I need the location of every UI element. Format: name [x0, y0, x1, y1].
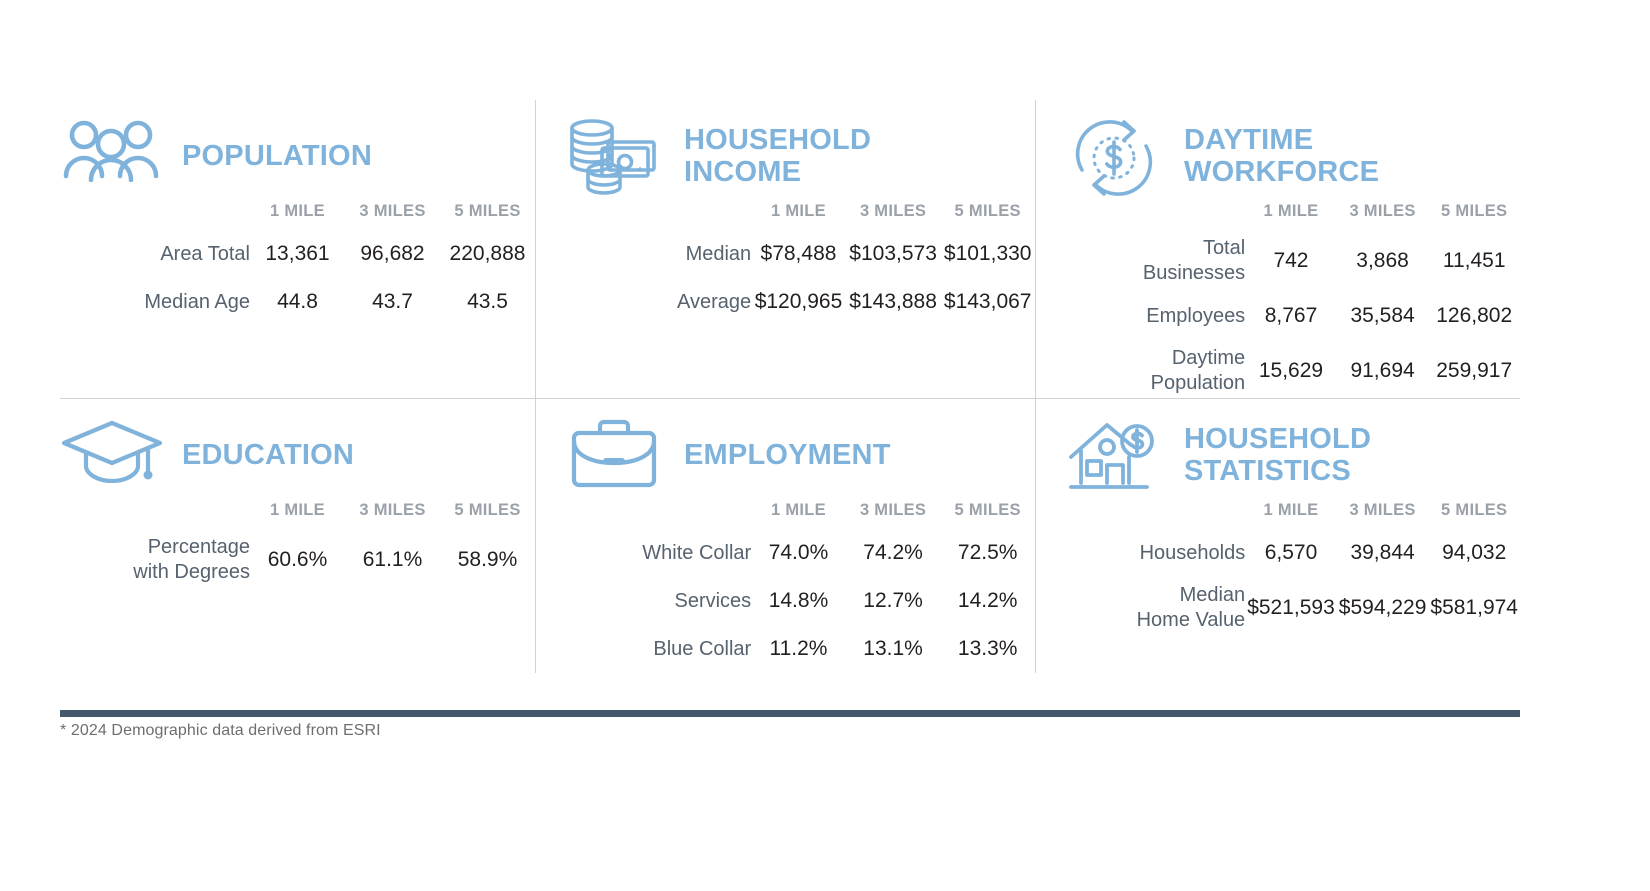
column-header-5miles: 5 MILES	[1428, 491, 1520, 529]
row-value: $101,330	[940, 230, 1035, 278]
column-header-3miles: 3 MILES	[345, 491, 440, 529]
panel-daytime-workforce: DAYTIME WORKFORCE 1 MILE 3 MILES 5 MILES…	[1035, 100, 1520, 398]
house-dollar-icon	[1062, 413, 1166, 493]
row-value: 13.3%	[940, 625, 1035, 673]
column-header-1mile: 1 MILE	[1245, 192, 1337, 230]
workforce-cycle-icon	[1062, 114, 1166, 198]
row-label: Median	[562, 230, 751, 278]
row-value: 96,682	[345, 230, 440, 278]
row-value: 14.8%	[751, 577, 846, 625]
row-value: 72.5%	[940, 529, 1035, 577]
row-value: $143,067	[940, 278, 1035, 326]
briefcase-icon	[562, 413, 666, 491]
row-value: 58.9%	[440, 529, 535, 591]
panel-population: POPULATION 1 MILE 3 MILES 5 MILES Area T…	[60, 100, 535, 398]
table-row: Employees 8,767 35,584 126,802	[1062, 292, 1520, 340]
row-value: 259,917	[1428, 340, 1520, 402]
column-header-5miles: 5 MILES	[940, 491, 1035, 529]
row-label: White Collar	[562, 529, 751, 577]
table-row: Average $120,965 $143,888 $143,067	[562, 278, 1035, 326]
panel-household-statistics: HOUSEHOLD STATISTICS 1 MILE 3 MILES 5 MI…	[1035, 398, 1520, 673]
table-row: Total Businesses 742 3,868 11,451	[1062, 230, 1520, 292]
panel-title: HOUSEHOLD INCOME	[684, 114, 871, 189]
row-value: $143,888	[846, 278, 941, 326]
row-value: 74.0%	[751, 529, 846, 577]
panel-title: POPULATION	[182, 114, 372, 172]
row-value: 14.2%	[940, 577, 1035, 625]
column-header-1mile: 1 MILE	[751, 192, 846, 230]
row-value: $581,974	[1428, 577, 1520, 639]
panel-header: HOUSEHOLD STATISTICS	[1062, 399, 1520, 491]
footer-note: * 2024 Demographic data derived from ESR…	[60, 722, 381, 740]
table-row: White Collar 74.0% 74.2% 72.5%	[562, 529, 1035, 577]
row-label: Daytime Population	[1062, 340, 1245, 402]
row-value: 13,361	[250, 230, 345, 278]
row-value: $120,965	[751, 278, 846, 326]
table-row: Median Home Value $521,593 $594,229 $581…	[1062, 577, 1520, 639]
row-label: Services	[562, 577, 751, 625]
table-row: Median Age 44.8 43.7 43.5	[60, 278, 535, 326]
panel-title: DAYTIME WORKFORCE	[1184, 114, 1379, 189]
row-label: Median Age	[60, 278, 250, 326]
money-icon	[562, 114, 666, 196]
row-label: Households	[1062, 529, 1245, 577]
column-header-1mile: 1 MILE	[1245, 491, 1337, 529]
row-value: 43.5	[440, 278, 535, 326]
row-value: 8,767	[1245, 292, 1337, 340]
row-value: 13.1%	[846, 625, 941, 673]
table-header-row: 1 MILE 3 MILES 5 MILES	[562, 491, 1035, 529]
column-header-1mile: 1 MILE	[250, 192, 345, 230]
row-label: Employees	[1062, 292, 1245, 340]
column-header-5miles: 5 MILES	[440, 192, 535, 230]
table-header-row: 1 MILE 3 MILES 5 MILES	[60, 192, 535, 230]
row-value: 61.1%	[345, 529, 440, 591]
row-label: Median Home Value	[1062, 577, 1245, 639]
panel-title: EDUCATION	[182, 413, 354, 471]
column-header-5miles: 5 MILES	[940, 192, 1035, 230]
row-value: 3,868	[1337, 230, 1429, 292]
stats-table: 1 MILE 3 MILES 5 MILES Median $78,488 $1…	[562, 192, 1035, 326]
row-value: 126,802	[1428, 292, 1520, 340]
row-label: Average	[562, 278, 751, 326]
row-value: $594,229	[1337, 577, 1429, 639]
row-label: Percentage with Degrees	[60, 529, 250, 591]
panel-household-income: HOUSEHOLD INCOME 1 MILE 3 MILES 5 MILES …	[535, 100, 1035, 398]
stats-table: 1 MILE 3 MILES 5 MILES Area Total 13,361…	[60, 192, 535, 326]
panel-education: EDUCATION 1 MILE 3 MILES 5 MILES Percent…	[60, 398, 535, 673]
stats-table: 1 MILE 3 MILES 5 MILES Households 6,570 …	[1062, 491, 1520, 639]
row-value: $521,593	[1245, 577, 1337, 639]
column-header-3miles: 3 MILES	[846, 491, 941, 529]
column-header-3miles: 3 MILES	[1337, 192, 1429, 230]
row-value: 44.8	[250, 278, 345, 326]
column-header-3miles: 3 MILES	[345, 192, 440, 230]
stats-table: 1 MILE 3 MILES 5 MILES Percentage with D…	[60, 491, 535, 591]
panel-header: HOUSEHOLD INCOME	[562, 100, 1035, 192]
row-value: 60.6%	[250, 529, 345, 591]
row-value: 6,570	[1245, 529, 1337, 577]
panel-title: HOUSEHOLD STATISTICS	[1184, 413, 1371, 488]
column-header-1mile: 1 MILE	[751, 491, 846, 529]
row-label: Total Businesses	[1062, 230, 1245, 292]
row-value: 43.7	[345, 278, 440, 326]
table-row: Area Total 13,361 96,682 220,888	[60, 230, 535, 278]
row-value: 220,888	[440, 230, 535, 278]
panel-header: POPULATION	[60, 100, 535, 192]
row-value: 12.7%	[846, 577, 941, 625]
stats-table: 1 MILE 3 MILES 5 MILES White Collar 74.0…	[562, 491, 1035, 673]
table-row: Daytime Population 15,629 91,694 259,917	[1062, 340, 1520, 402]
row-value: 91,694	[1337, 340, 1429, 402]
row-value: 15,629	[1245, 340, 1337, 402]
row-value: 11.2%	[751, 625, 846, 673]
table-row: Households 6,570 39,844 94,032	[1062, 529, 1520, 577]
row-value: 11,451	[1428, 230, 1520, 292]
panel-grid: POPULATION 1 MILE 3 MILES 5 MILES Area T…	[60, 100, 1520, 673]
table-header-row: 1 MILE 3 MILES 5 MILES	[60, 491, 535, 529]
column-header-5miles: 5 MILES	[1428, 192, 1520, 230]
graduation-cap-icon	[60, 413, 164, 489]
row-value: $78,488	[751, 230, 846, 278]
row-value: 35,584	[1337, 292, 1429, 340]
row-label: Area Total	[60, 230, 250, 278]
panel-header: EMPLOYMENT	[562, 399, 1035, 491]
table-row: Services 14.8% 12.7% 14.2%	[562, 577, 1035, 625]
column-header-3miles: 3 MILES	[1337, 491, 1429, 529]
row-value: 39,844	[1337, 529, 1429, 577]
panel-employment: EMPLOYMENT 1 MILE 3 MILES 5 MILES White …	[535, 398, 1035, 673]
panel-header: DAYTIME WORKFORCE	[1062, 100, 1520, 192]
table-row: Percentage with Degrees 60.6% 61.1% 58.9…	[60, 529, 535, 591]
row-value: 94,032	[1428, 529, 1520, 577]
row-value: $103,573	[846, 230, 941, 278]
row-label: Blue Collar	[562, 625, 751, 673]
panel-header: EDUCATION	[60, 399, 535, 491]
table-header-row: 1 MILE 3 MILES 5 MILES	[562, 192, 1035, 230]
table-header-row: 1 MILE 3 MILES 5 MILES	[1062, 491, 1520, 529]
column-header-5miles: 5 MILES	[440, 491, 535, 529]
footer-divider	[60, 710, 1520, 717]
table-row: Blue Collar 11.2% 13.1% 13.3%	[562, 625, 1035, 673]
demographics-infographic: POPULATION 1 MILE 3 MILES 5 MILES Area T…	[0, 0, 1650, 891]
table-row: Median $78,488 $103,573 $101,330	[562, 230, 1035, 278]
people-icon	[60, 114, 164, 182]
stats-table: 1 MILE 3 MILES 5 MILES Total Businesses …	[1062, 192, 1520, 402]
row-value: 74.2%	[846, 529, 941, 577]
column-header-1mile: 1 MILE	[250, 491, 345, 529]
panel-title: EMPLOYMENT	[684, 413, 891, 471]
row-value: 742	[1245, 230, 1337, 292]
column-header-3miles: 3 MILES	[846, 192, 941, 230]
